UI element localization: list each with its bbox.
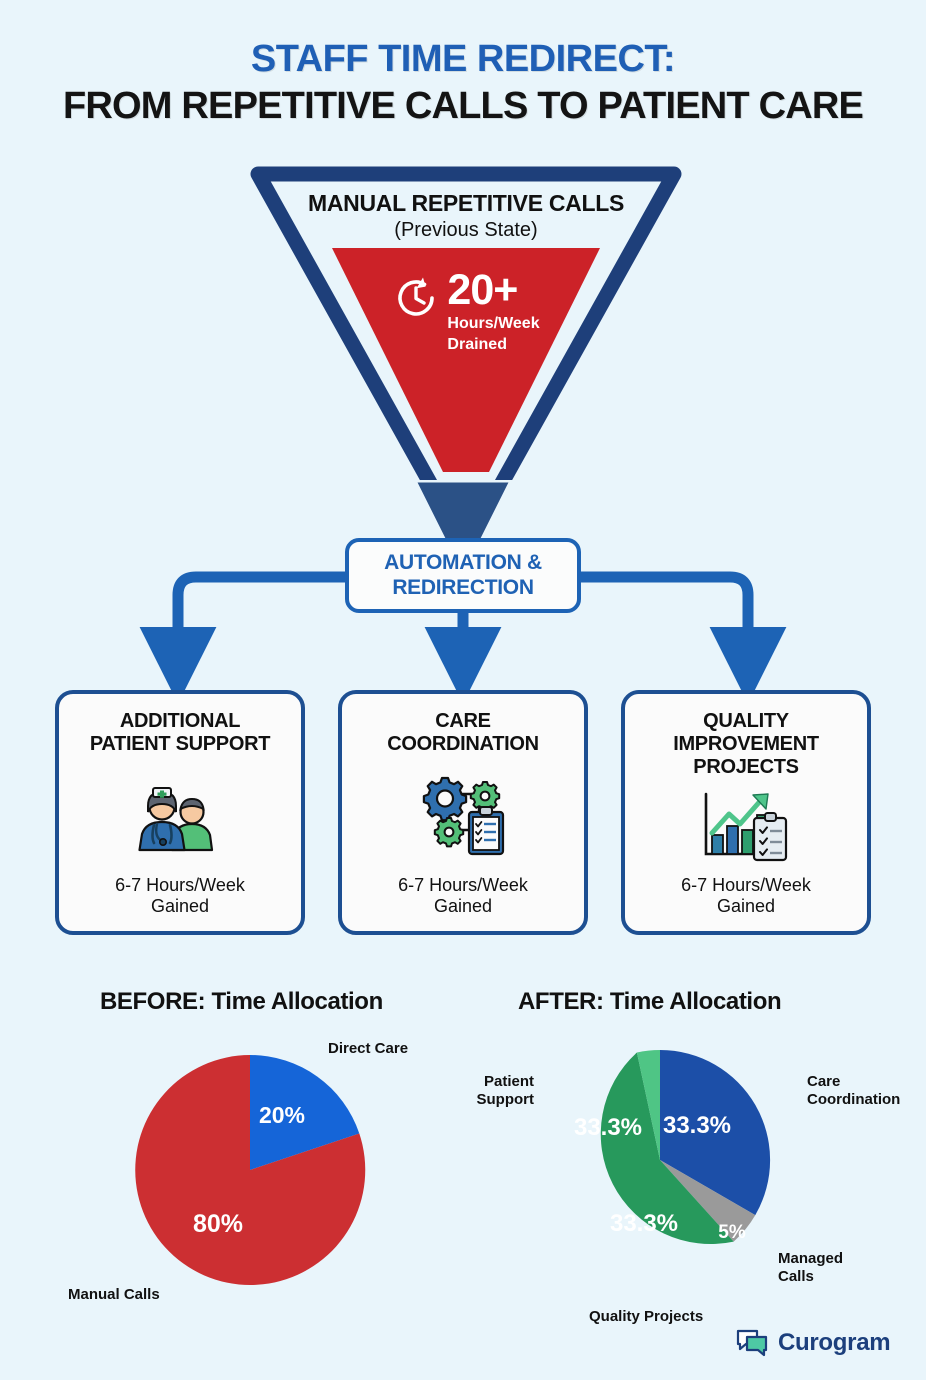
card-3-title: QUALITY IMPROVEMENT PROJECTS [665, 710, 827, 778]
card-3-title-line-1: QUALITY [703, 710, 789, 732]
pie-before-title: BEFORE: Time Allocation [100, 988, 383, 1016]
pie-after-label-care-coordination-l2: Coordination [807, 1091, 900, 1108]
card-1-icon-slot [132, 756, 228, 875]
card-1-title-line-1: ADDITIONAL [120, 710, 240, 732]
pie-before-value-direct-care: 20% [259, 1102, 305, 1128]
card-2-title: CARE COORDINATION [379, 710, 547, 756]
pie-before-value-manual-calls: 80% [193, 1210, 243, 1238]
pie-after-label-managed-calls-l1: Managed [778, 1250, 843, 1267]
pie-after-label-managed-calls-l2: Calls [778, 1268, 814, 1285]
curogram-logo[interactable]: Curogram [735, 1328, 890, 1358]
pie-after-value-patient-support: 33.3% [574, 1114, 642, 1141]
automation-label-line-1: AUTOMATION & [384, 551, 542, 574]
pie-after-value-care-coordination: 33.3% [663, 1112, 731, 1139]
pie-before-label-manual-calls: Manual Calls [68, 1286, 160, 1304]
infographic-canvas: STAFF TIME REDIRECT: FROM REPETITIVE CAL… [0, 0, 926, 1380]
automation-label: AUTOMATION & REDIRECTION [384, 551, 542, 599]
pie-chart-before: 20% 80% [130, 1050, 370, 1290]
card-1-footer: 6-7 Hours/Week Gained [115, 875, 245, 931]
card-2-title-line-2: COORDINATION [387, 733, 539, 755]
pie-after-label-patient-support-l2: Support [477, 1091, 535, 1108]
card-2-icon-slot [415, 756, 511, 875]
pie-after-label-care-coordination-l1: Care [807, 1073, 840, 1090]
card-3-icon-slot [698, 778, 794, 874]
card-1-title: ADDITIONAL PATIENT SUPPORT [82, 710, 278, 756]
pie-chart-after: 33.3% 5% 33.3% 33.3% [545, 1045, 775, 1275]
card-3-title-line-2: IMPROVEMENT [673, 733, 819, 755]
card-2-footer-line-1: 6-7 Hours/Week [398, 875, 528, 895]
card-3-footer-line-2: Gained [717, 896, 775, 916]
pie-after-label-managed-calls: Managed Calls [778, 1250, 843, 1285]
card-quality-improvement-projects[interactable]: QUALITY IMPROVEMENT PROJECTS [621, 690, 871, 935]
title-line-1: STAFF TIME REDIRECT: [0, 38, 926, 81]
pie-after-label-patient-support-l1: Patient [484, 1073, 534, 1090]
card-2-title-line-1: CARE [435, 710, 490, 732]
card-3-footer: 6-7 Hours/Week Gained [681, 875, 811, 931]
card-1-footer-line-1: 6-7 Hours/Week [115, 875, 245, 895]
card-additional-patient-support[interactable]: ADDITIONAL PATIENT SUPPORT 6-7 Hours/ [55, 690, 305, 935]
arrow-to-card-3 [581, 577, 748, 662]
card-1-footer-line-2: Gained [151, 896, 209, 916]
card-2-footer-line-2: Gained [434, 896, 492, 916]
card-3-footer-line-1: 6-7 Hours/Week [681, 875, 811, 895]
card-3-title-line-3: PROJECTS [693, 756, 798, 778]
automation-box[interactable]: AUTOMATION & REDIRECTION [345, 538, 581, 613]
card-care-coordination[interactable]: CARE COORDINATION [338, 690, 588, 935]
growth-chart-checklist-icon [698, 790, 794, 862]
arrow-to-card-1 [178, 577, 345, 662]
card-1-title-line-2: PATIENT SUPPORT [90, 733, 270, 755]
funnel-graphic: MANUAL REPETITIVE CALLS (Previous State)… [236, 160, 696, 480]
pie-after-title: AFTER: Time Allocation [518, 988, 781, 1016]
funnel-shape [236, 160, 696, 480]
automation-label-line-2: REDIRECTION [392, 576, 533, 599]
curogram-wordmark: Curogram [778, 1329, 890, 1357]
card-2-footer: 6-7 Hours/Week Gained [398, 875, 528, 931]
chat-bubbles-icon [735, 1328, 769, 1358]
pie-after-value-quality-projects: 33.3% [610, 1210, 678, 1237]
gears-clipboard-icon [415, 774, 511, 856]
pie-before-label-direct-care: Direct Care [328, 1040, 408, 1058]
pie-after-label-quality-projects: Quality Projects [589, 1308, 703, 1326]
pie-after-value-managed-calls: 5% [718, 1222, 746, 1243]
page-title: STAFF TIME REDIRECT: FROM REPETITIVE CAL… [0, 38, 926, 127]
title-line-2: FROM REPETITIVE CALLS TO PATIENT CARE [0, 85, 926, 128]
pie-after-label-patient-support: Patient Support [472, 1073, 534, 1108]
pie-after-label-care-coordination: Care Coordination [807, 1073, 900, 1108]
nurse-and-patient-icon [132, 776, 228, 854]
